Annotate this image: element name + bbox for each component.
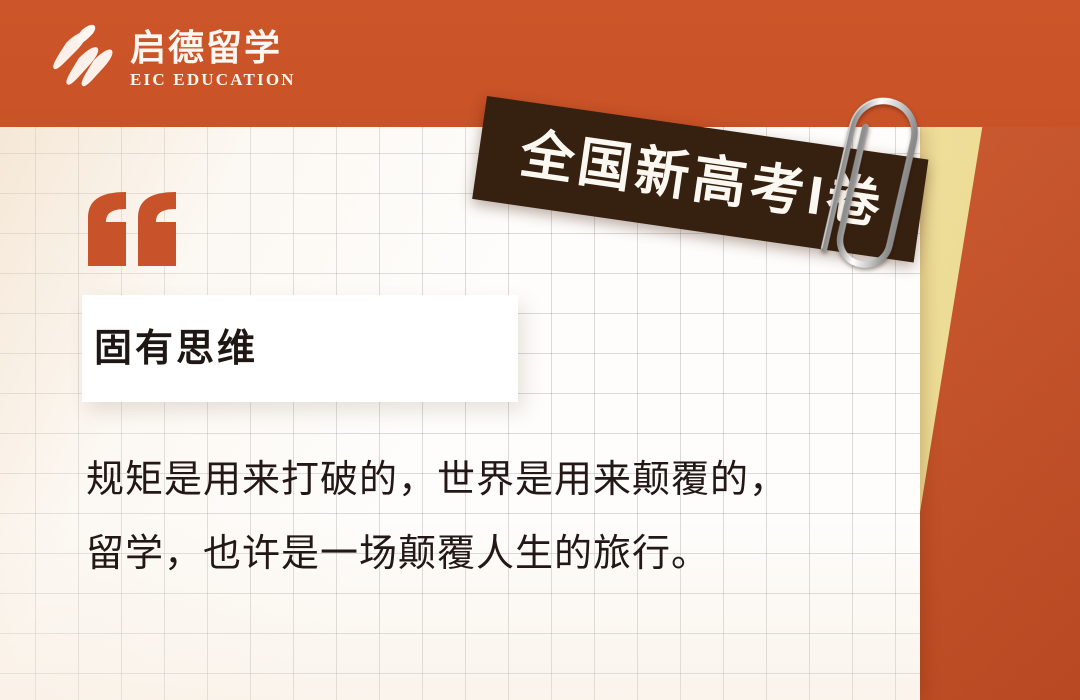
heading-card: 固有思维 [82, 295, 518, 402]
brand-lockup: 启德留学 EIC EDUCATION [52, 24, 296, 94]
brand-text-block: 启德留学 EIC EDUCATION [130, 28, 296, 90]
brand-name-cn: 启德留学 [130, 28, 296, 68]
heading-title: 固有思维 [94, 330, 258, 368]
quote-line-1: 规矩是用来打破的，世界是用来颠覆的， [86, 443, 846, 517]
double-quote-icon [88, 192, 178, 266]
brand-name-en: EIC EDUCATION [130, 71, 296, 90]
eic-monogram-icon [52, 24, 114, 94]
quote-body: 规矩是用来打破的，世界是用来颠覆的， 留学，也许是一场颠覆人生的旅行。 [86, 443, 846, 591]
poster-canvas: 启德留学 EIC EDUCATION 全国新高考I卷 [0, 0, 1080, 700]
quote-line-2: 留学，也许是一场颠覆人生的旅行。 [86, 517, 846, 591]
